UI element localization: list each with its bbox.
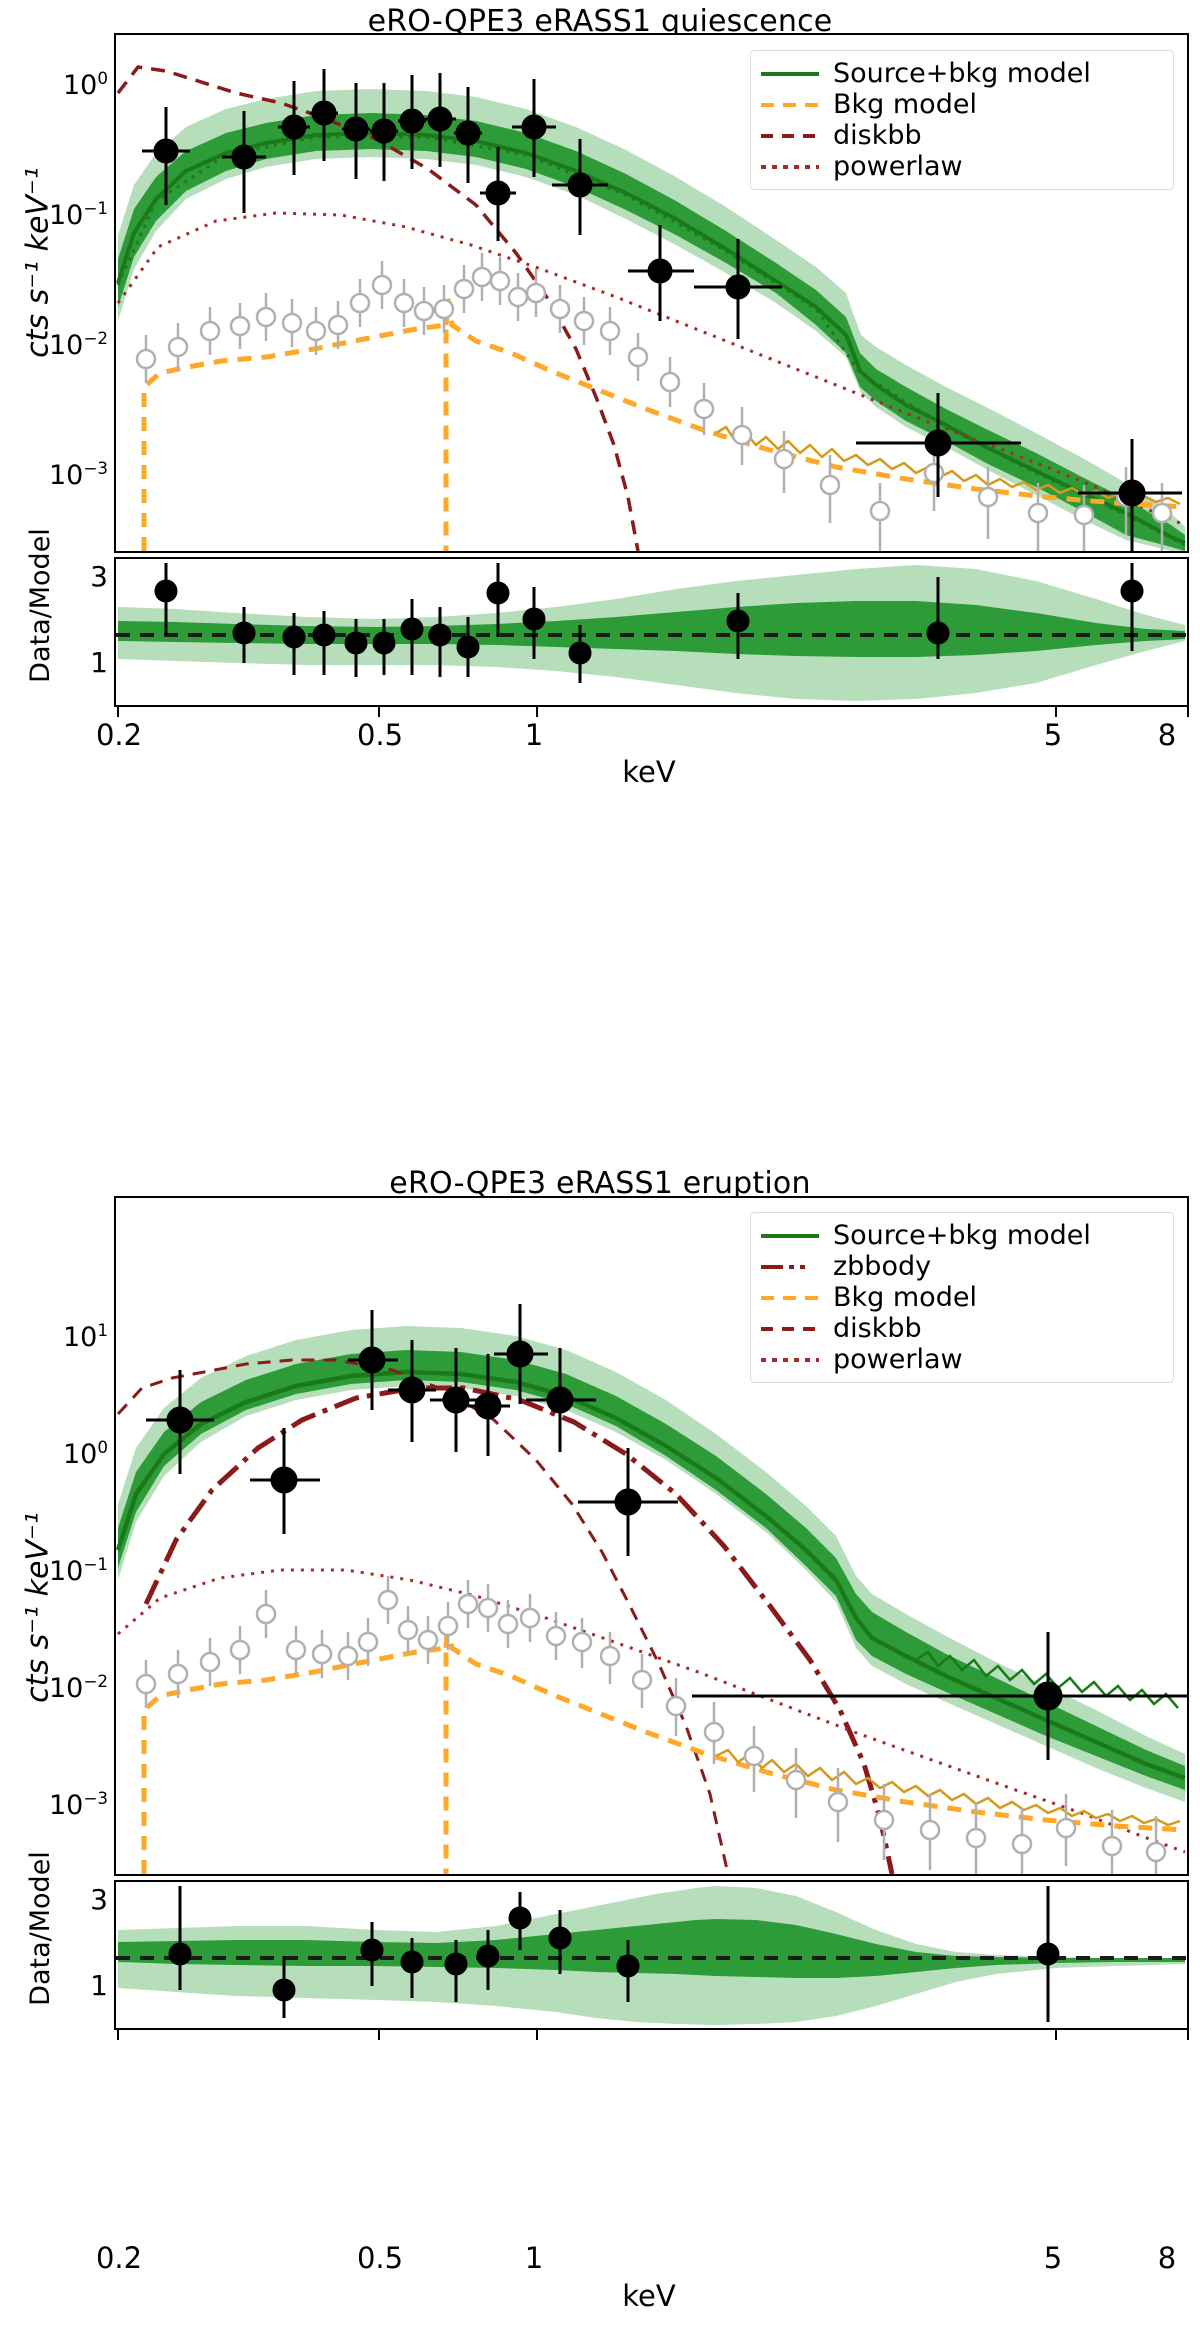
ytick-1e-1-q: 10−1 [0,198,108,231]
xtick-mark-q-5 [1187,707,1189,717]
ratio-y-axis-label-eruption: Data/Model [25,1836,56,2021]
legend-label-bkg-model-q: Bkg model [833,89,977,120]
ytick-1e-3-q: 10−3 [0,458,108,491]
xtick-5-e: 5 [1028,2241,1078,2275]
ratio-y-axis-label-quiescence: Data/Model [25,513,56,698]
x-axis-label-quiescence: keV [109,755,1189,789]
bkg-data-points-quiescence [137,253,1171,551]
legend-label-diskbb-q: diskbb [833,120,922,151]
legend-label-diskbb-e: diskbb [833,1313,922,1344]
legend-item-source-bkg-model-e[interactable]: Source+bkg model [761,1220,1161,1251]
xtick-8-e: 8 [1142,2241,1192,2275]
xtick-0.2-e: 0.2 [84,2241,154,2275]
legend-label-zbbody-e: zbbody [833,1251,931,1282]
xtick-mark-q-4 [1055,707,1057,717]
xtick-0.5-e: 0.5 [345,2241,415,2275]
legend-item-diskbb-e[interactable]: diskbb [761,1313,1161,1344]
legend-item-zbbody-e[interactable]: zbbody [761,1251,1161,1282]
xtick-0.2-q: 0.2 [84,718,154,752]
legend-quiescence: Source+bkg model Bkg model diskbb powerl… [750,50,1174,190]
legend-item-source-bkg-model-q[interactable]: Source+bkg model [761,58,1161,89]
ratio-plot-eruption [114,1880,1189,2030]
ytick-1e-2-q: 10−2 [0,328,108,361]
xtick-1-e: 1 [509,2241,559,2275]
bkg-model-line-eruption [144,1622,1185,1874]
xtick-mark-e-4 [1055,2030,1057,2040]
ytick-1e1-e: 101 [0,1320,108,1353]
xtick-mark-e-3 [536,2030,538,2040]
ytick-1e0-q: 100 [0,68,108,101]
xtick-mark-e-2 [378,2030,380,2040]
ratio-canvas-eruption [116,1882,1187,2028]
xtick-mark-e-1 [117,2030,119,2040]
legend-item-diskbb-q[interactable]: diskbb [761,120,1161,151]
x-axis-label-eruption: keV [109,2279,1189,2313]
ytick-1e0-e: 100 [0,1437,108,1470]
legend-item-bkg-model-e[interactable]: Bkg model [761,1282,1161,1313]
xtick-1-q: 1 [509,718,559,752]
xtick-8-q: 8 [1142,718,1192,752]
legend-label-bkg-model-e: Bkg model [833,1282,977,1313]
zbbody-line-eruption [146,1388,892,1874]
xtick-mark-q-2 [378,707,380,717]
legend-label-source-bkg-model-e: Source+bkg model [833,1220,1091,1251]
ytick-1e-3-e: 10−3 [0,1788,108,1821]
ytick-1e-1-e: 10−1 [0,1554,108,1587]
legend-eruption: Source+bkg model zbbody Bkg model diskbb… [750,1212,1174,1383]
xtick-mark-q-3 [536,707,538,717]
legend-label-powerlaw-q: powerlaw [833,151,963,182]
legend-item-powerlaw-q[interactable]: powerlaw [761,151,1161,182]
xtick-0.5-q: 0.5 [345,718,415,752]
figure-root: eRO-QPE3 eRASS1 quiescence cts s⁻¹ keV⁻¹… [0,0,1200,2339]
xtick-mark-q-1 [117,707,119,717]
legend-label-source-bkg-model-q: Source+bkg model [833,58,1091,89]
xtick-5-q: 5 [1028,718,1078,752]
legend-item-bkg-model-q[interactable]: Bkg model [761,89,1161,120]
ratio-plot-quiescence [114,557,1189,707]
ytick-1e-2-e: 10−2 [0,1671,108,1704]
xtick-mark-e-5 [1187,2030,1189,2040]
legend-item-powerlaw-e[interactable]: powerlaw [761,1344,1161,1375]
legend-label-powerlaw-e: powerlaw [833,1344,963,1375]
model-band-1sigma-e [118,1350,1185,1790]
ratio-canvas-quiescence [116,559,1187,705]
